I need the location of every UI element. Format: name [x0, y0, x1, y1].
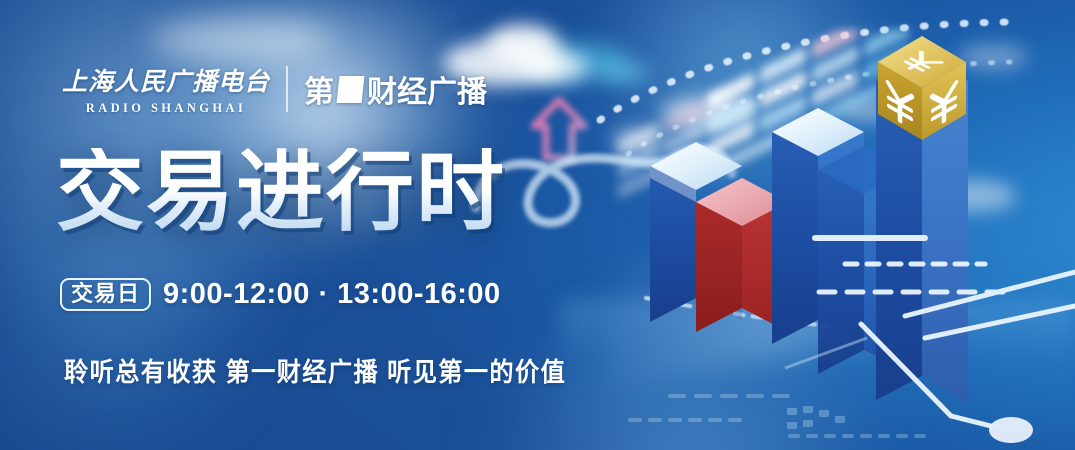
trading-day-badge: 交易日 — [60, 278, 151, 311]
promo-banner: 上海人民广播电台 RADIO SHANGHAI 第 财经广播 交易进行时 交易日… — [0, 0, 1075, 450]
channel-label-part1: 第 — [304, 67, 334, 111]
tagline: 聆听总有收获 第一财经广播 听见第一的价值 — [64, 352, 566, 389]
station-name-en: RADIO SHANGHAI — [86, 101, 246, 116]
circuit-trace-decoration — [600, 300, 960, 450]
page-title: 交易进行时 — [56, 148, 506, 236]
radio-shanghai-logo[interactable]: 上海人民广播电台 RADIO SHANGHAI — [62, 62, 270, 116]
station-name-cn: 上海人民广播电台 — [62, 62, 270, 98]
channel-square-glyph — [337, 76, 365, 103]
broadcast-hours: 9:00-12:00 · 13:00-16:00 — [163, 278, 501, 311]
logo-row: 上海人民广播电台 RADIO SHANGHAI 第 财经广播 — [62, 62, 487, 116]
logo-divider — [286, 66, 288, 112]
schedule-row: 交易日 9:00-12:00 · 13:00-16:00 — [60, 278, 501, 311]
channel-logo[interactable]: 第 财经广播 — [304, 67, 487, 111]
channel-label-part2: 财经广播 — [367, 67, 487, 111]
